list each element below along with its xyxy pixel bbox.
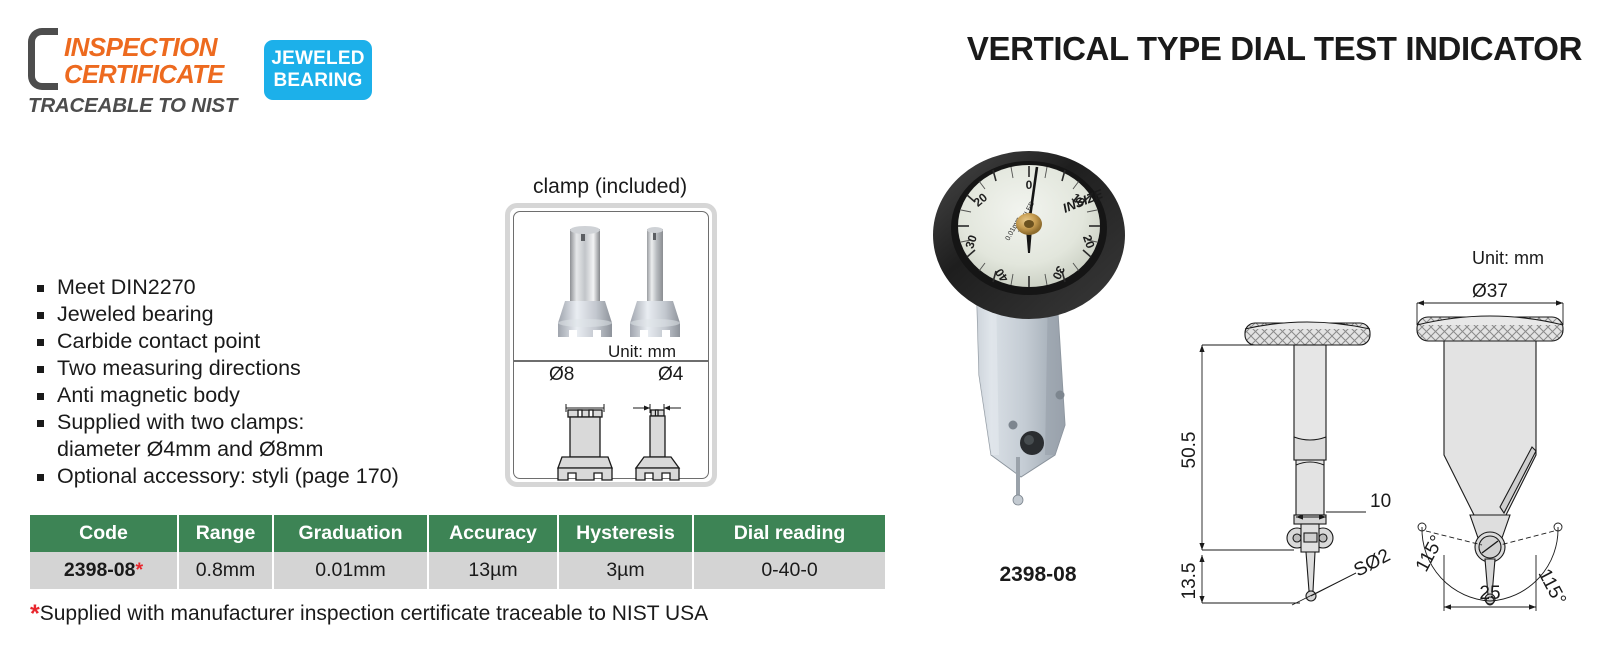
inspection-certificate-logo: INSPECTION CERTIFICATE TRACEABLE TO NIST: [28, 28, 253, 123]
cell-graduation: 0.01mm: [273, 552, 428, 589]
dim-height-lower: 13.5: [1179, 563, 1200, 600]
dim-base-width: 25: [1479, 583, 1500, 604]
clamp-dim-8mm-label: Ø8: [549, 364, 574, 386]
clamp-drawing-group: [513, 360, 715, 484]
list-item: Carbide contact point: [33, 328, 463, 355]
cell-dial-reading: 0-40-0: [693, 552, 885, 589]
list-item: Meet DIN2270: [33, 274, 463, 301]
feature-text: Meet DIN2270: [57, 275, 196, 299]
cell-code-value: 2398-08: [64, 559, 136, 581]
bullet-square-icon: [37, 393, 44, 400]
front-view-drawing: [1417, 316, 1563, 604]
cell-code: 2398-08*: [30, 552, 178, 589]
specification-table: Code Range Graduation Accuracy Hysteresi…: [30, 515, 885, 589]
list-item: Anti magnetic body: [33, 382, 463, 409]
footnote: *Supplied with manufacturer inspection c…: [30, 600, 708, 629]
clamp-unit-label: Unit: mm: [608, 342, 676, 362]
list-item: Supplied with two clamps: diameter Ø4mm …: [33, 409, 463, 463]
cell-accuracy: 13µm: [428, 552, 558, 589]
clamp-dim-4mm-label: Ø4: [658, 364, 683, 386]
table-header-row: Code Range Graduation Accuracy Hysteresi…: [30, 515, 885, 552]
feature-text: Jeweled bearing: [57, 302, 214, 326]
list-item: Jeweled bearing: [33, 301, 463, 328]
dim-angle-right: 115°: [1534, 565, 1570, 608]
list-item: Two measuring directions: [33, 355, 463, 382]
certificate-wordmark: INSPECTION CERTIFICATE: [64, 33, 254, 89]
feature-text: Two measuring directions: [57, 356, 301, 380]
product-photo: 0 10 20 30 40 30 20 INSIZE JEWELED 0.01m…: [913, 125, 1163, 555]
bullet-square-icon: [37, 312, 44, 319]
list-item: Optional accessory: styli (page 170): [33, 463, 463, 490]
column-header-range: Range: [178, 515, 273, 552]
column-header-code: Code: [30, 515, 178, 552]
product-photo-caption: 2398-08: [913, 563, 1163, 587]
dim-stem-width: 10: [1370, 491, 1391, 512]
badge-line-1: JEWELED: [271, 48, 364, 70]
feature-text: Supplied with two clamps:: [57, 410, 304, 434]
dim-angle-left: 115°: [1412, 532, 1448, 575]
footnote-text: Supplied with manufacturer inspection ce…: [40, 602, 708, 625]
dim-dial-diameter: Ø37: [1472, 281, 1508, 302]
dim-ball-diameter: SØ2: [1350, 545, 1393, 581]
bullet-square-icon: [37, 339, 44, 346]
feature-text: Optional accessory: styli (page 170): [57, 464, 399, 488]
bullet-square-icon: [37, 474, 44, 481]
certificate-line-1: INSPECTION: [64, 33, 254, 61]
certificate-traceable-text: TRACEABLE TO NIST: [28, 94, 237, 118]
jeweled-bearing-badge: JEWELED BEARING: [264, 40, 372, 100]
feature-text-continued: diameter Ø4mm and Ø8mm: [57, 436, 463, 463]
column-header-hysteresis: Hysteresis: [558, 515, 693, 552]
feature-list: Meet DIN2270 Jeweled bearing Carbide con…: [33, 274, 463, 490]
technical-drawings: 50.5 13.5 10 SØ2: [1170, 255, 1600, 615]
catalog-page: INSPECTION CERTIFICATE TRACEABLE TO NIST…: [0, 0, 1600, 670]
clamp-4mm-drawing: [633, 404, 681, 480]
certificate-line-2: CERTIFICATE: [64, 61, 254, 89]
bullet-square-icon: [37, 420, 44, 427]
column-header-dial-reading: Dial reading: [693, 515, 885, 552]
code-asterisk-marker: *: [135, 559, 143, 581]
feature-text: Carbide contact point: [57, 329, 260, 353]
clamp-photo-group: [513, 213, 715, 357]
side-view-drawing: [1245, 322, 1370, 601]
dial-tick-0: 0: [1026, 178, 1033, 192]
feature-text: Anti magnetic body: [57, 383, 240, 407]
column-header-accuracy: Accuracy: [428, 515, 558, 552]
table-row: 2398-08* 0.8mm 0.01mm 13µm 3µm 0-40-0: [30, 552, 885, 589]
clamp-4mm-photo: [630, 227, 680, 337]
dim-height-total: 50.5: [1179, 432, 1200, 469]
side-view-dimension-lines: [1199, 345, 1366, 605]
bullet-square-icon: [37, 285, 44, 292]
clamp-8mm-drawing: [558, 404, 612, 480]
clamp-8mm-photo: [558, 226, 612, 337]
badge-line-2: BEARING: [273, 70, 362, 92]
cell-hysteresis: 3µm: [558, 552, 693, 589]
cell-range: 0.8mm: [178, 552, 273, 589]
page-title: VERTICAL TYPE DIAL TEST INDICATOR: [967, 30, 1582, 68]
footnote-asterisk-marker: *: [30, 600, 40, 628]
clamp-caption: clamp (included): [533, 175, 687, 199]
bullet-square-icon: [37, 366, 44, 373]
column-header-graduation: Graduation: [273, 515, 428, 552]
dial-head: 0 10 20 30 40 30 20 INSIZE JEWELED 0.01m…: [933, 151, 1125, 319]
